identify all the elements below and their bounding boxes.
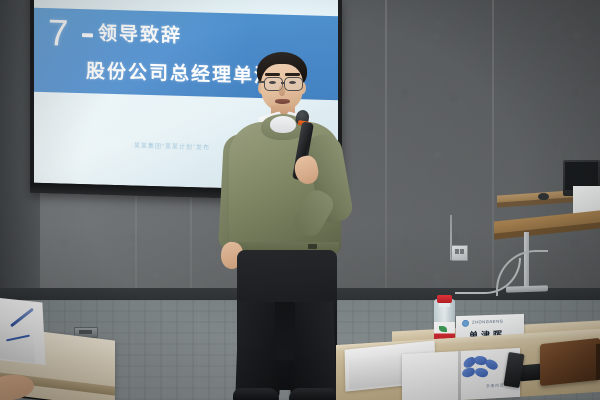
wall-seam — [385, 0, 387, 300]
nose — [279, 85, 285, 96]
open-booklet — [402, 348, 520, 400]
computer-mouse — [538, 193, 549, 200]
left-shoe — [233, 388, 279, 400]
slide-heading: 领导致辞 — [98, 24, 182, 48]
mouth — [275, 99, 290, 104]
name-card-brand: ZHONGNENG — [472, 319, 503, 325]
glasses-bridge — [281, 82, 285, 84]
right-shoe — [289, 388, 337, 400]
booklet-caption: 手册内页 — [486, 383, 504, 390]
bottle-cap — [437, 295, 452, 303]
notebook-edge — [596, 344, 600, 380]
leaf-icon — [439, 326, 447, 332]
sweater-neck-opening — [270, 116, 296, 133]
leather-notebook — [540, 338, 600, 386]
dash-icon — [82, 33, 93, 37]
eyebrow — [265, 73, 280, 76]
circle-logo-icon — [462, 320, 469, 327]
eyebrow — [285, 73, 300, 76]
conference-photo: 7 领导致辞 股份公司总经理单津晖 某某集团“某某计划”发布 — [0, 0, 600, 400]
glasses-icon — [284, 77, 303, 91]
slide-number: 7 — [48, 14, 70, 52]
clothing-tag — [308, 244, 317, 249]
booklet-spine — [458, 351, 461, 400]
wall-seam — [492, 0, 494, 300]
trouser-seam — [275, 302, 295, 360]
glasses-temple — [258, 81, 265, 83]
